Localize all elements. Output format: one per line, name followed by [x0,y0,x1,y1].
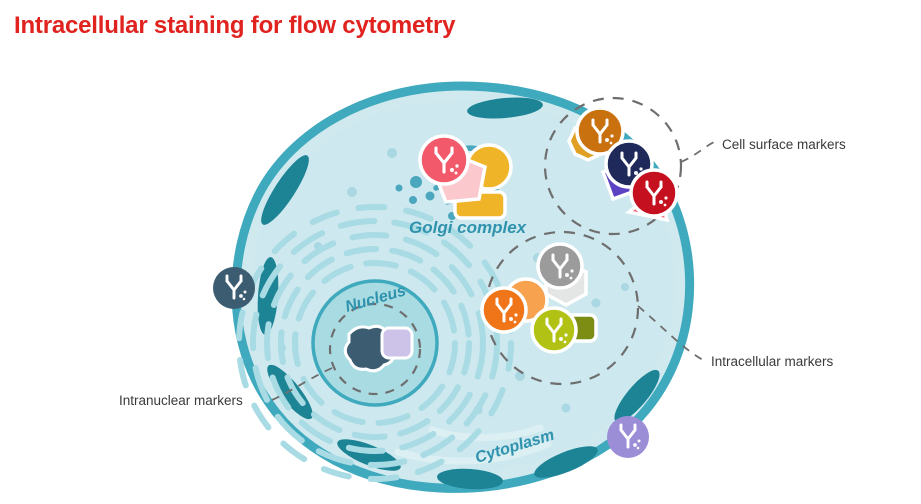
leader-cell-surface [681,142,714,162]
cell-illustration: Golgi complex Nucleus Cytoplasm [0,0,921,504]
marker-free-antibody-violet[interactable] [607,416,649,458]
marker-free-antibody-slate[interactable] [213,267,255,309]
golgi-label: Golgi complex [409,218,528,237]
callout-cell-surface-markers: Cell surface markers [722,137,846,152]
callout-intranuclear-markers: Intranuclear markers [119,393,243,408]
nuclear-square [382,328,412,358]
diagram-canvas: Intracellular staining for flow cytometr… [0,0,921,504]
callout-intracellular-markers: Intracellular markers [711,354,833,369]
